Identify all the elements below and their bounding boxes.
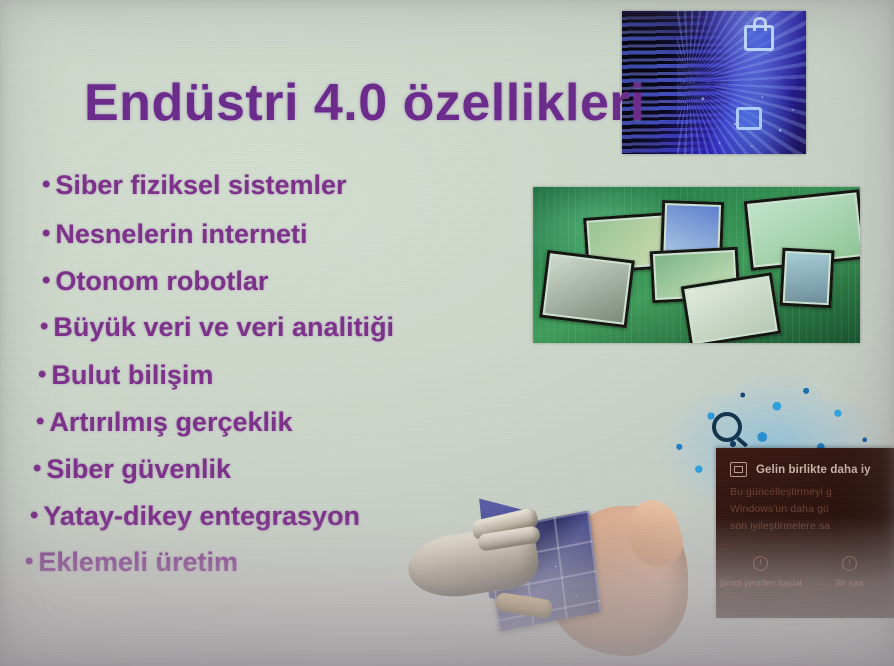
list-item: •Nesnelerin interneti [42,221,307,248]
list-item: •Otonom robotlar [42,268,268,295]
notification-body-line-2: Windows'un daha gü [730,503,829,515]
sparkle-dots [677,75,806,154]
connected-screens-image [533,187,860,343]
robot-hand-cube-image [404,492,694,666]
notification-body-line-3: son iyileştirmelere sa [730,520,830,532]
list-item-label: Artırılmış gerçeklik [49,407,292,437]
list-item-label: Siber fiziksel sistemler [55,170,346,200]
bullet-marker: • [30,504,38,528]
list-item: •Eklemeli üretim [25,549,238,576]
schedule-button[interactable]: Bir saa [805,556,894,589]
notification-header: Gelin birlikte daha iy [730,462,871,477]
cyber-security-padlock-image [622,11,806,154]
list-item: •Artırılmış gerçeklik [36,409,293,436]
restart-now-label: Şimdi yeniden başlat [719,578,802,588]
notification-title: Gelin birlikte daha iy [756,464,871,476]
bullet-marker: • [38,363,46,387]
bullet-marker: • [42,173,50,197]
windows-update-notification[interactable]: Gelin birlikte daha iy Bu güncelleştirme… [716,448,894,618]
bullet-marker: • [36,410,44,434]
bullet-marker: • [40,315,48,339]
projected-slide: Endüstri 4.0 özellikleri •Siber fiziksel… [0,0,894,666]
screen-thumb [780,248,835,309]
schedule-icon [842,556,857,571]
notification-body-line-1: Bu güncelleştirmeyi g [730,486,832,498]
padlock-icon [744,25,774,51]
bullet-marker: • [33,457,41,481]
list-item: •Siber güvenlik [33,456,231,483]
list-item-label: Büyük veri ve veri analitiği [53,312,394,342]
list-item-label: Bulut bilişim [51,360,213,390]
list-item-label: Eklemeli üretim [38,547,238,577]
schedule-label: Bir saa [835,578,863,588]
screen-thumb [539,250,635,328]
list-item-label: Nesnelerin interneti [55,219,307,249]
list-item: •Siber fiziksel sistemler [42,172,347,199]
list-item: •Bulut bilişim [38,362,213,389]
windows-update-icon [730,462,747,477]
list-item: •Büyük veri ve veri analitiği [40,314,394,341]
notification-actions: Şimdi yeniden başlat Bir saa [716,556,894,589]
list-item-label: Siber güvenlik [46,454,231,484]
clock-icon [753,556,768,571]
bullet-marker: • [42,269,50,293]
list-item: •Yatay-dikey entegrasyon [30,503,360,530]
page-title: Endüstri 4.0 özellikleri [84,77,645,129]
restart-now-button[interactable]: Şimdi yeniden başlat [716,556,805,589]
bullet-marker: • [42,222,50,246]
bullet-marker: • [25,550,33,574]
magnifier-icon [712,412,742,442]
list-item-label: Otonom robotlar [55,266,268,296]
list-item-label: Yatay-dikey entegrasyon [43,501,360,531]
